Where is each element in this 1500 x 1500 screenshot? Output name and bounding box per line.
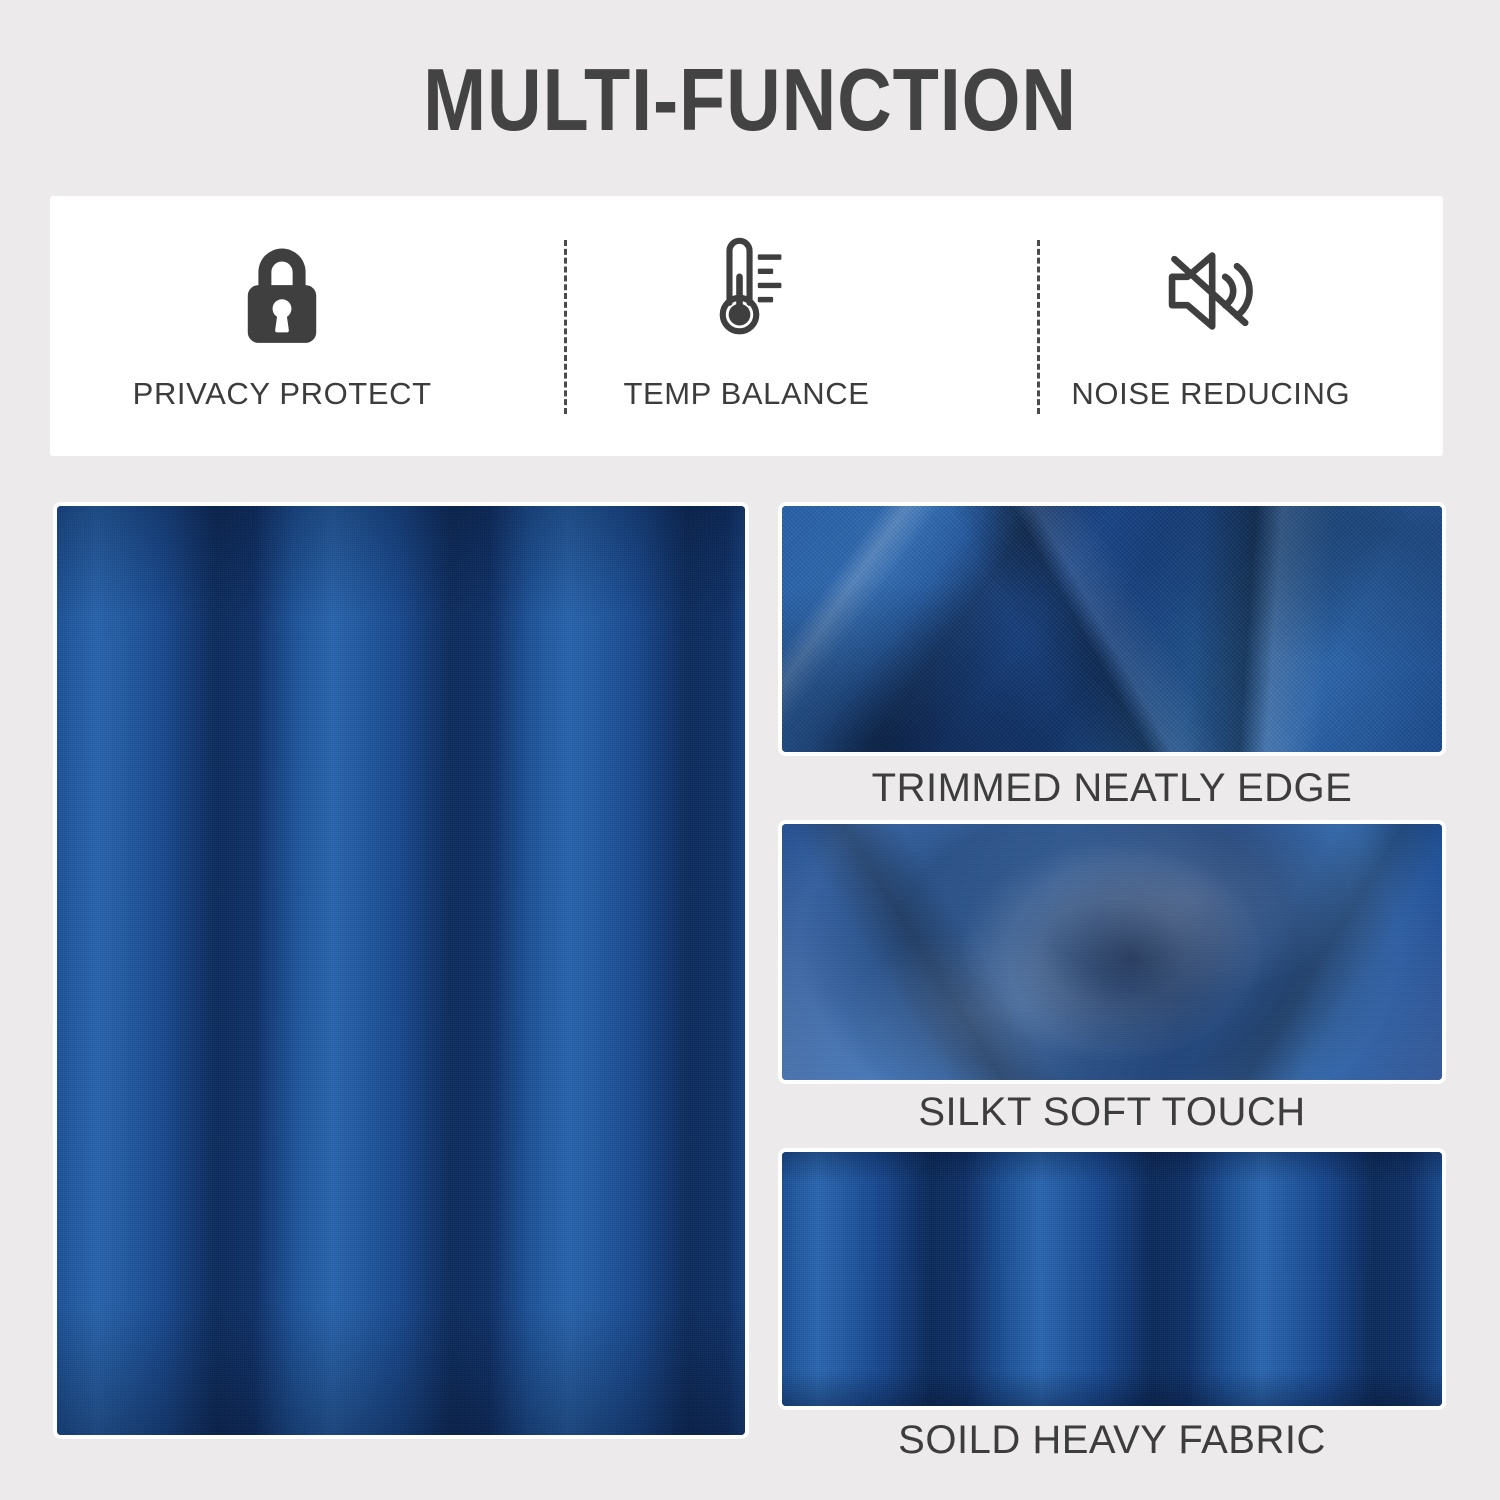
solid-fabric-image <box>782 1152 1442 1406</box>
blue-curtain-panel-image <box>57 506 745 1435</box>
caption-trimmed-edge: TRIMMED NEATLY EDGE <box>782 766 1442 811</box>
edge-shadow-overlay <box>782 506 1442 752</box>
caption-silk-soft-touch: SILKT SOFT TOUCH <box>782 1090 1442 1135</box>
product-gallery: TRIMMED NEATLY EDGE SILKT SOFT TOUCH SOI… <box>0 0 1500 1500</box>
silk-swirl-image <box>782 824 1442 1080</box>
solid-vignette-overlay <box>782 1152 1442 1406</box>
vignette-overlay <box>57 506 745 1435</box>
caption-solid-heavy-fabric: SOILD HEAVY FABRIC <box>782 1418 1442 1463</box>
silk-grain-overlay <box>782 824 1442 1080</box>
trimmed-edge-image <box>782 506 1442 752</box>
